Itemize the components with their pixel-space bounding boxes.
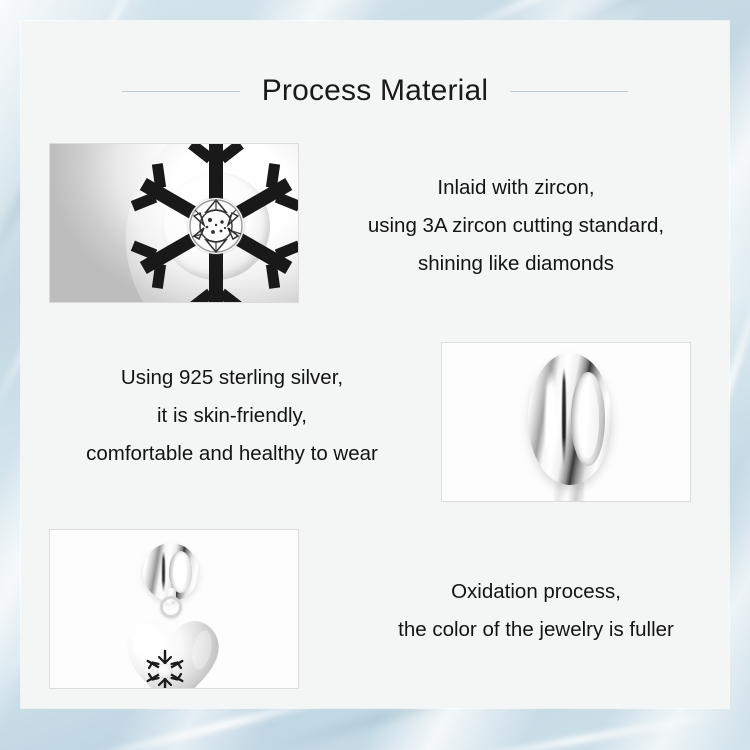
zircon-stone	[188, 198, 244, 254]
zircon-facets-icon	[188, 198, 244, 254]
infographic-page: Process Material	[0, 0, 750, 750]
photo-canvas	[50, 530, 298, 688]
content-card: Process Material	[21, 21, 729, 708]
text-block-oxidation: Oxidation process, the color of the jewe…	[361, 573, 711, 649]
title-rule-right	[510, 91, 628, 92]
text-line: the color of the jewelry is fuller	[361, 611, 711, 649]
charm-bail-hole-inner	[173, 556, 187, 588]
bead-specular-highlight	[545, 369, 556, 467]
title-rule-left	[122, 91, 240, 92]
text-line: using 3A zircon cutting standard,	[321, 207, 711, 245]
silver-donut-bead-photo	[441, 342, 691, 502]
photo-canvas	[442, 343, 690, 501]
page-title: Process Material	[262, 74, 489, 108]
charm-bail-reflection-line	[162, 551, 165, 593]
text-block-zircon: Inlaid with zircon, using 3A zircon cutt…	[321, 169, 711, 283]
page-title-row: Process Material	[21, 61, 729, 121]
text-line: comfortable and healthy to wear	[37, 435, 427, 473]
heart-dangle-charm-photo	[49, 529, 299, 689]
bead-hole-inner	[578, 381, 599, 458]
text-block-silver: Using 925 sterling silver, it is skin-fr…	[37, 359, 427, 473]
bead-reflection-line	[562, 367, 566, 467]
snowflake-zircon-macro-photo	[49, 143, 299, 303]
text-line: shining like diamonds	[321, 245, 711, 283]
photo-canvas	[50, 144, 298, 302]
text-line: Using 925 sterling silver,	[37, 359, 427, 397]
background-streak	[432, 710, 729, 750]
heart-zircon-stone	[158, 664, 172, 678]
background-streak	[310, 0, 590, 16]
text-line: Inlaid with zircon,	[321, 169, 711, 207]
text-line: Oxidation process,	[361, 573, 711, 611]
text-line: it is skin-friendly,	[37, 397, 427, 435]
